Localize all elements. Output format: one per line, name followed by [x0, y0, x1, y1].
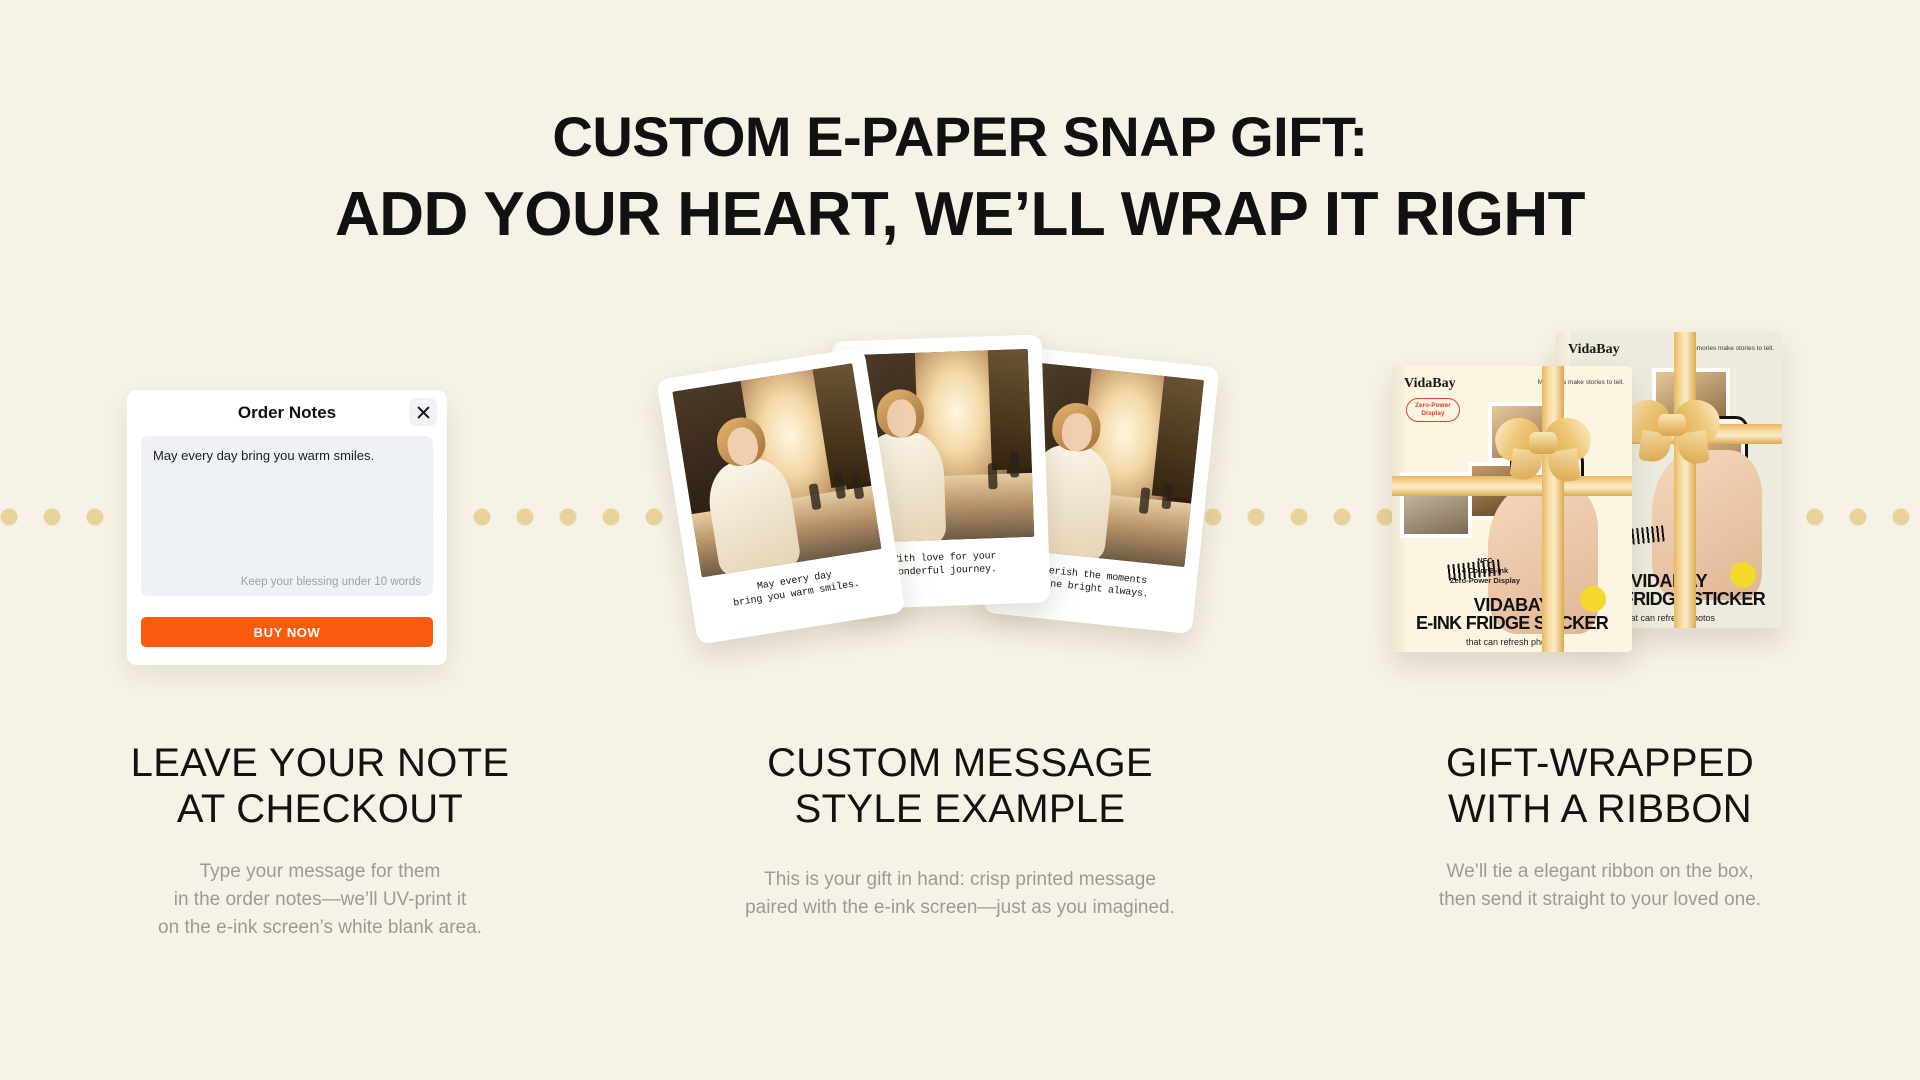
feature-title-line-2: AT CHECKOUT — [0, 786, 640, 832]
headline-line-1: CUSTOM E-PAPER SNAP GIFT: — [0, 100, 1920, 174]
description-line-3: on the e-ink screen’s white blank area. — [0, 914, 640, 942]
brand-logo: VidaBay — [1568, 342, 1620, 358]
polaroid-card[interactable]: May every day bring you warm smiles. — [656, 347, 905, 645]
order-notes-header: Order Notes — [127, 390, 447, 436]
badge-line-2: Display — [1415, 410, 1451, 418]
order-notes-input[interactable]: May every day bring you warm smiles. Kee… — [141, 436, 433, 596]
description-line-2: then send it straight to your loved one. — [1280, 886, 1920, 914]
description-line-1: This is your gift in hand: crisp printed… — [640, 866, 1280, 894]
description-line-2: in the order notes—we’ll UV-print it — [0, 886, 640, 914]
column-custom-message: Cherish the moments shine bright always. — [640, 330, 1280, 700]
feature-title-line-1: LEAVE YOUR NOTE — [0, 740, 640, 786]
zero-power-badge: Zero-Power Display — [1406, 398, 1460, 422]
badge-line-1: Zero-Power — [1415, 402, 1451, 410]
order-notes-value: May every day bring you warm smiles. — [153, 447, 421, 465]
feature-title: CUSTOM MESSAGE STYLE EXAMPLE — [640, 740, 1280, 832]
polaroid-visual: Cherish the moments shine bright always. — [640, 330, 1280, 700]
spec-line-2: 4 Color E-Ink — [1430, 566, 1540, 576]
feature-title-line-1: GIFT-WRAPPED — [1280, 740, 1920, 786]
feature-description: Type your message for them in the order … — [0, 858, 640, 942]
feature-description: This is your gift in hand: crisp printed… — [640, 866, 1280, 922]
feature-title: GIFT-WRAPPED WITH A RIBBON — [1280, 740, 1920, 832]
headline-line-2: ADD YOUR HEART, WE’LL WRAP IT RIGHT — [0, 174, 1920, 256]
polaroid-stack: Cherish the moments shine bright always. — [640, 330, 1280, 700]
gift-box-front: VidaBay Memories make stories to tell. Z… — [1392, 366, 1632, 652]
page-title: CUSTOM E-PAPER SNAP GIFT: ADD YOUR HEART… — [0, 100, 1920, 256]
feature-title-line-2: WITH A RIBBON — [1280, 786, 1920, 832]
feature-caption-gift-wrapped: GIFT-WRAPPED WITH A RIBBON We’ll tie a e… — [1280, 740, 1920, 914]
feature-caption-custom-message: CUSTOM MESSAGE STYLE EXAMPLE This is you… — [640, 740, 1280, 922]
spec-line-3: Zero-Power Display — [1430, 576, 1540, 586]
ribbon-bow-front — [1495, 414, 1591, 476]
description-line-1: Type your message for them — [0, 858, 640, 886]
feature-description: We’ll tie a elegant ribbon on the box, t… — [1280, 858, 1920, 914]
description-line-1: We’ll tie a elegant ribbon on the box, — [1280, 858, 1920, 886]
buy-now-button[interactable]: BUY NOW — [141, 617, 433, 647]
product-subtitle: that can refresh photos — [1392, 637, 1632, 647]
promo-banner: CUSTOM E-PAPER SNAP GIFT: ADD YOUR HEART… — [0, 0, 1920, 1080]
feature-caption-leave-note: LEAVE YOUR NOTE AT CHECKOUT Type your me… — [0, 740, 640, 942]
close-glyph — [417, 406, 430, 419]
feature-title-line-2: STYLE EXAMPLE — [640, 786, 1280, 832]
column-leave-note: Order Notes May every day bring you warm… — [0, 330, 640, 700]
feature-title: LEAVE YOUR NOTE AT CHECKOUT — [0, 740, 640, 832]
gift-box-visual: VidaBay Memories make stories to tell. V… — [1280, 330, 1920, 700]
description-line-2: paired with the e-ink screen—just as you… — [640, 894, 1280, 922]
order-notes-visual: Order Notes May every day bring you warm… — [0, 330, 640, 700]
brand-logo: VidaBay — [1404, 376, 1456, 392]
box-tagline: Memories make stories to tell. — [1688, 345, 1774, 352]
ribbon-bow-back — [1624, 396, 1720, 458]
order-notes-card: Order Notes May every day bring you warm… — [127, 390, 447, 665]
feature-title-line-1: CUSTOM MESSAGE — [640, 740, 1280, 786]
close-icon[interactable] — [409, 398, 437, 426]
spec-line-1: NFC — [1430, 556, 1540, 566]
column-gift-wrapped: VidaBay Memories make stories to tell. V… — [1280, 330, 1920, 700]
order-notes-hint: Keep your blessing under 10 words — [241, 576, 421, 588]
product-name-line-2: E-INK FRIDGE STICKER — [1392, 613, 1632, 634]
order-notes-title: Order Notes — [238, 403, 336, 423]
gift-box-stack: VidaBay Memories make stories to tell. V… — [1280, 330, 1920, 700]
polaroid-photo — [672, 363, 881, 577]
product-specs: NFC 4 Color E-Ink Zero-Power Display — [1430, 556, 1540, 586]
feature-columns: Order Notes May every day bring you warm… — [0, 330, 1920, 700]
